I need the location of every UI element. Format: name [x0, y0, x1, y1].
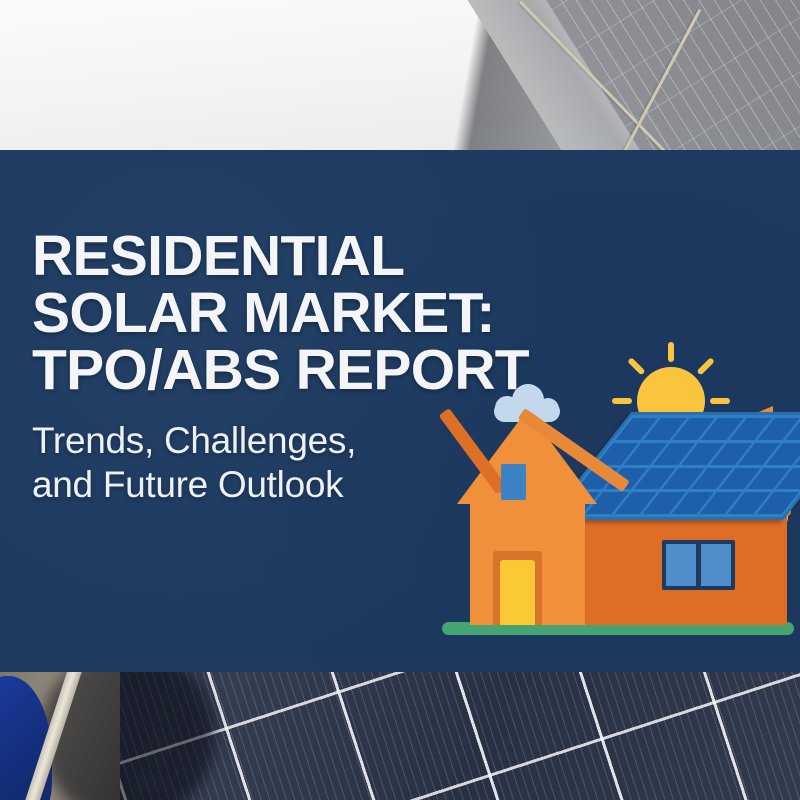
solar-cell [691, 468, 733, 490]
solar-cell [786, 418, 800, 440]
solar-cell [756, 492, 798, 514]
cloud-lobe [537, 398, 559, 420]
title-line-2: SOLAR MARKET: [32, 285, 532, 342]
solar-cell [747, 468, 789, 490]
sun-ray [627, 357, 715, 445]
cloud-icon-middle [541, 476, 595, 507]
cloud-lobe [733, 485, 770, 522]
roof-slope [525, 406, 773, 511]
front-door [500, 560, 535, 625]
solar-cell [643, 492, 685, 514]
solar-cell [700, 492, 742, 514]
title-line-3: TPO/ABS REPORT [32, 342, 532, 399]
page-subtitle: Trends, Challenges, and Future Outlook [32, 419, 532, 506]
title-line-1: RESIDENTIAL [32, 228, 532, 285]
door-frame [493, 551, 542, 625]
solar-cell [710, 443, 752, 465]
house-side-wall [582, 500, 787, 625]
solar-cell [672, 418, 714, 440]
cloud-base [541, 490, 595, 507]
window-pane-right [701, 544, 731, 586]
solar-cell [596, 443, 638, 465]
sun-ray [627, 357, 715, 445]
solar-cell [614, 492, 656, 514]
page-title: RESIDENTIAL SOLAR MARKET: TPO/ABS REPORT [32, 228, 532, 399]
sun-core [637, 367, 705, 435]
solar-cell [795, 443, 800, 465]
cloud-lobe [556, 476, 582, 502]
side-window [662, 540, 735, 590]
solar-cell [644, 418, 686, 440]
house-front-wall [470, 500, 585, 625]
sun-ray [668, 342, 674, 460]
solar-cell [719, 468, 761, 490]
solar-cell [681, 443, 723, 465]
solar-cell [586, 492, 628, 514]
solar-cell [758, 418, 800, 440]
solar-cell [776, 468, 800, 490]
solar-cell [662, 468, 704, 490]
solar-cell [701, 418, 743, 440]
solar-cell [738, 443, 780, 465]
sun-icon [612, 342, 730, 460]
cloud-base [712, 505, 788, 529]
ground-strip [442, 622, 794, 635]
solar-cell [729, 418, 771, 440]
cloud-lobe [713, 499, 740, 526]
solar-cell [671, 492, 713, 514]
title-banner: RESIDENTIAL SOLAR MARKET: TPO/ABS REPORT… [0, 150, 800, 672]
window-pane-left [666, 544, 696, 586]
roof-eave [577, 504, 791, 516]
gable-trim-right [518, 408, 630, 492]
report-cover-canvas: RESIDENTIAL SOLAR MARKET: TPO/ABS REPORT… [0, 0, 800, 800]
text-block: RESIDENTIAL SOLAR MARKET: TPO/ABS REPORT… [32, 228, 532, 506]
cloud-icon-lower-right [712, 485, 788, 529]
sun-ray [612, 398, 730, 404]
background-photo-bottom [0, 668, 800, 800]
subtitle-line-1: Trends, Challenges, [32, 419, 532, 463]
solar-cell [605, 468, 647, 490]
solar-cell [558, 492, 600, 514]
solar-cell [625, 443, 667, 465]
solar-cell [634, 468, 676, 490]
cloud-lobe [762, 501, 787, 526]
rooftop-solar-array [547, 412, 783, 520]
cloud-lobe [577, 487, 595, 505]
solar-cell [728, 492, 770, 514]
cloud-lobe [542, 486, 561, 505]
subtitle-line-2: and Future Outlook [32, 463, 532, 507]
background-photo-top [0, 0, 800, 152]
solar-cell [653, 443, 695, 465]
solar-cell [767, 443, 800, 465]
solar-cell [577, 468, 619, 490]
solar-panel-grid [547, 412, 800, 520]
solar-cell [616, 418, 658, 440]
